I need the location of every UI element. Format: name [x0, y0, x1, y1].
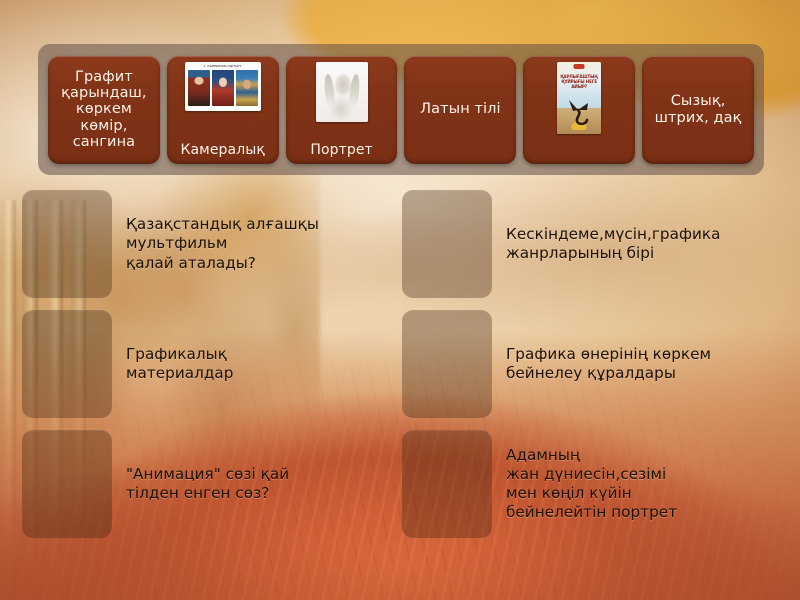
question-row-animation-origin: "Анимация" сөзі қай тілден енген сөз?: [22, 430, 289, 538]
answer-tile-book[interactable]: ҚАРЛЫҒАШТЫҢ ҚҰЙРЫҒЫ НЕГЕ АЙЫР?: [523, 56, 635, 164]
publisher-badge-icon: [574, 64, 585, 69]
question-text: Адамның жан дүниесін,сезімі мен көңіл кү…: [506, 446, 677, 523]
question-text: "Анимация" сөзі қай тілден енген сөз?: [126, 465, 289, 503]
answer-tile-graphite[interactable]: Графит қарындаш, көркем көмір, сангина: [48, 56, 160, 164]
answer-tile-kameralyq[interactable]: 1. Камералық портрет. Камералық: [167, 56, 279, 164]
collage-portrait-1: [188, 70, 210, 106]
collage-caption: 1. Камералық портрет.: [187, 65, 259, 68]
question-text: Қазақстандық алғашқы мультфильм қалай ат…: [126, 215, 319, 272]
question-row-graphic-materials: Графикалық материалдар: [22, 310, 233, 418]
collage-portrait-3: [236, 70, 258, 106]
collage-portrait-2: [212, 70, 234, 106]
dropzone-inner-world-portrait[interactable]: [402, 430, 492, 538]
question-row-first-cartoon: Қазақстандық алғашқы мультфильм қалай ат…: [22, 190, 319, 298]
question-text: Графикалық материалдар: [126, 345, 233, 383]
answer-tile-latyn-tili[interactable]: Латын тілі: [404, 56, 516, 164]
swallow-icon: [566, 98, 592, 128]
answer-tile-label: Графит қарындаш, көркем көмір, сангина: [48, 69, 160, 150]
dropzone-graphic-materials[interactable]: [22, 310, 112, 418]
answer-tile-portret[interactable]: Портрет: [286, 56, 398, 164]
question-text: Кескіндеме,мүсін,графика жанрларының бір…: [506, 225, 721, 263]
answer-tile-tray: Графит қарындаш, көркем көмір, сангина 1…: [38, 44, 764, 175]
answer-tile-label: Портрет: [306, 143, 377, 159]
book-title: ҚАРЛЫҒАШТЫҢ ҚҰЙРЫҒЫ НЕГЕ АЙЫР?: [557, 74, 601, 89]
question-row-inner-world-portrait: Адамның жан дүниесін,сезімі мен көңіл кү…: [402, 430, 677, 538]
answer-tile-syzyq[interactable]: Сызық, штрих, дақ: [642, 56, 754, 164]
collage-row: [187, 70, 259, 106]
activity-stage: Графит қарындаш, көркем көмір, сангина 1…: [0, 0, 800, 600]
portrait-face: [316, 62, 368, 122]
answer-tile-label: Сызық, штрих, дақ: [642, 93, 754, 125]
answer-tile-label: Камералық: [176, 143, 269, 159]
question-text: Графика өнерінің көркем бейнелеу құралда…: [506, 345, 711, 383]
question-row-graphic-art-means: Графика өнерінің көркем бейнелеу құралда…: [402, 310, 711, 418]
dropzone-graphic-art-means[interactable]: [402, 310, 492, 418]
royal-portraits-collage-image: 1. Камералық портрет.: [185, 62, 261, 111]
dropzone-first-cartoon[interactable]: [22, 190, 112, 298]
book-cover-image: ҚАРЛЫҒАШТЫҢ ҚҰЙРЫҒЫ НЕГЕ АЙЫР?: [557, 62, 601, 134]
dropzone-genre[interactable]: [402, 190, 492, 298]
pencil-portrait-image: [316, 62, 368, 122]
answer-tile-label: Латын тілі: [416, 101, 505, 117]
question-row-genre: Кескіндеме,мүсін,графика жанрларының бір…: [402, 190, 721, 298]
dropzone-animation-origin[interactable]: [22, 430, 112, 538]
